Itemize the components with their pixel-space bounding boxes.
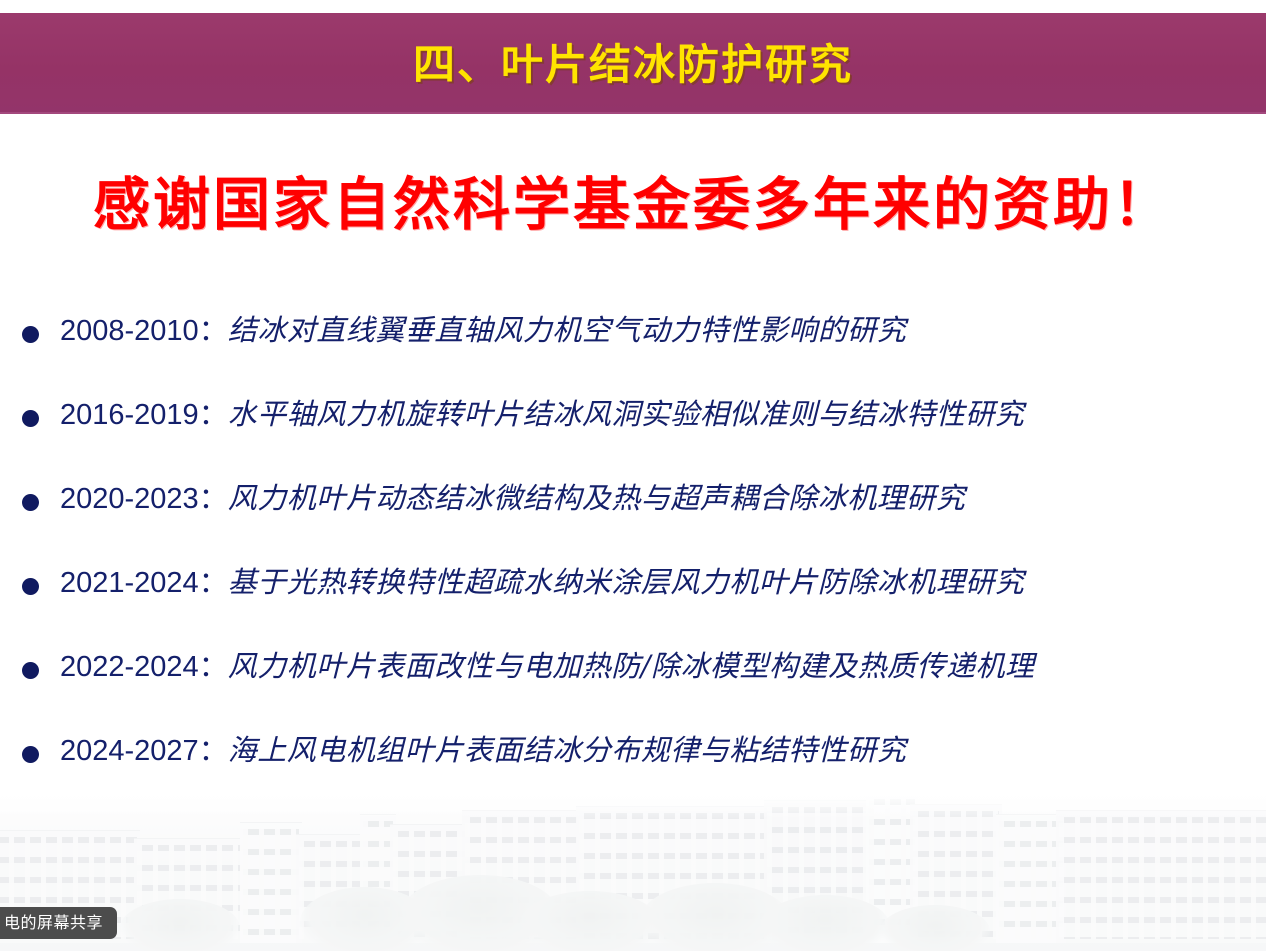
slide-header-band: 四、叶片结冰防护研究	[0, 13, 1266, 114]
list-item: 2016-2019：水平轴风力机旋转叶片结冰风洞实验相似准则与结冰特性研究	[22, 396, 1252, 480]
list-item-separator: ：	[199, 315, 228, 347]
photo-fade	[0, 793, 1266, 819]
campus-photo	[0, 793, 1266, 951]
list-item: 2021-2024：基于光热转换特性超疏水纳米涂层风力机叶片防除冰机理研究	[22, 564, 1252, 648]
list-item: 2008-2010：结冰对直线翼垂直轴风力机空气动力特性影响的研究	[22, 312, 1252, 396]
list-item: 2022-2024：风力机叶片表面改性与电加热防/除冰模型构建及热质传递机理	[22, 648, 1252, 732]
list-item-text: 2020-2023：风力机叶片动态结冰微结构及热与超声耦合除冰机理研究	[60, 480, 965, 517]
bullet-dot-icon	[22, 662, 39, 679]
list-item-title: 风力机叶片动态结冰微结构及热与超声耦合除冰机理研究	[228, 481, 966, 515]
list-item-years: 2024-2027	[60, 735, 199, 767]
screen-share-badge[interactable]: 电的屏幕共享	[0, 907, 117, 939]
list-item-separator: ：	[199, 567, 228, 599]
list-item-title: 基于光热转换特性超疏水纳米涂层风力机叶片防除冰机理研究	[228, 565, 1025, 599]
acknowledgement-heading: 感谢国家自然科学基金委多年来的资助！	[0, 172, 1266, 238]
list-item-title: 水平轴风力机旋转叶片结冰风洞实验相似准则与结冰特性研究	[228, 397, 1025, 431]
list-item-years: 2021-2024	[60, 567, 199, 599]
list-item-separator: ：	[199, 483, 228, 515]
list-item-years: 2022-2024	[60, 651, 199, 683]
list-item-separator: ：	[199, 651, 228, 683]
building	[1056, 810, 1266, 943]
list-item: 2020-2023：风力机叶片动态结冰微结构及热与超声耦合除冰机理研究	[22, 480, 1252, 564]
bullet-dot-icon	[22, 494, 39, 511]
bullet-dot-icon	[22, 578, 39, 595]
list-item-text: 2008-2010：结冰对直线翼垂直轴风力机空气动力特性影响的研究	[60, 312, 906, 349]
tree	[880, 905, 990, 951]
funding-project-list: 2008-2010：结冰对直线翼垂直轴风力机空气动力特性影响的研究 2016-2…	[22, 312, 1252, 816]
tree	[760, 895, 890, 951]
tree	[520, 891, 660, 951]
presentation-slide: 四、叶片结冰防护研究 感谢国家自然科学基金委多年来的资助！ 2008-2010：…	[0, 0, 1266, 951]
list-item-text: 2016-2019：水平轴风力机旋转叶片结冰风洞实验相似准则与结冰特性研究	[60, 396, 1024, 433]
list-item-title: 海上风电机组叶片表面结冰分布规律与粘结特性研究	[228, 733, 907, 767]
bullet-dot-icon	[22, 410, 39, 427]
list-item-text: 2024-2027：海上风电机组叶片表面结冰分布规律与粘结特性研究	[60, 732, 906, 769]
list-item-years: 2020-2023	[60, 483, 199, 515]
list-item-separator: ：	[199, 735, 228, 767]
list-item-years: 2008-2010	[60, 315, 199, 347]
list-item-text: 2021-2024：基于光热转换特性超疏水纳米涂层风力机叶片防除冰机理研究	[60, 564, 1024, 601]
list-item-title: 风力机叶片表面改性与电加热防/除冰模型构建及热质传递机理	[228, 649, 1035, 683]
list-item-title: 结冰对直线翼垂直轴风力机空气动力特性影响的研究	[228, 313, 907, 347]
list-item-years: 2016-2019	[60, 399, 199, 431]
bullet-dot-icon	[22, 746, 39, 763]
list-item-separator: ：	[199, 399, 228, 431]
bullet-dot-icon	[22, 326, 39, 343]
slide-title: 四、叶片结冰防护研究	[413, 44, 853, 86]
tree	[120, 899, 240, 951]
list-item-text: 2022-2024：风力机叶片表面改性与电加热防/除冰模型构建及热质传递机理	[60, 648, 1034, 685]
building	[240, 822, 302, 943]
